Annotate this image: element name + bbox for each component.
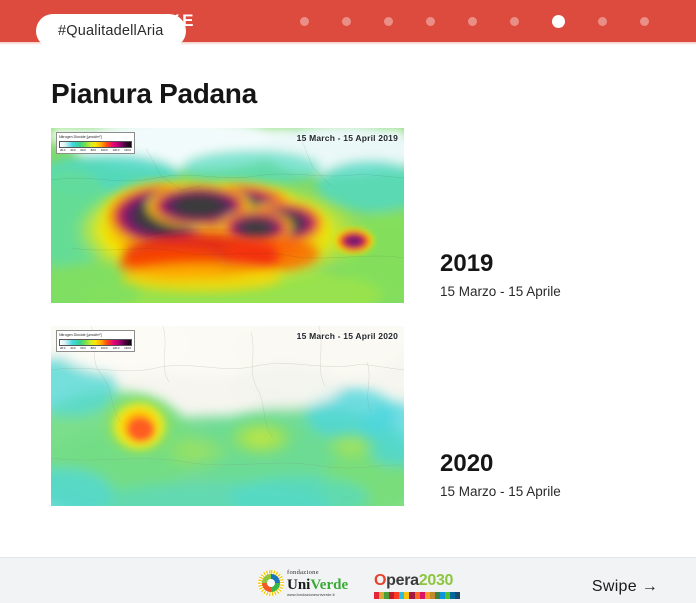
legend-tick-5: 100.0 [101,148,108,152]
carousel-dot-7-active[interactable] [552,15,565,28]
colorbar-legend-2019: Nitrogen Dioxide [µmol/m²] 20.0 40.0 60.… [56,132,135,154]
swipe-label[interactable]: Swipe → [592,578,658,596]
legend-tick-2: 40.0 [70,148,75,152]
legend-ticks: 20.0 40.0 60.0 80.0 100.0 120.0 140.0 [59,148,132,152]
year-block-2020: 2020 15 Marzo - 15 Aprile [440,450,561,501]
univerde-wordmark: fondazione UniVerde www.fondazioneuniver… [287,570,348,597]
opera-2030: 2030 [419,572,453,589]
page-title: Pianura Padana [51,78,257,110]
legend-tick-3: 60.0 [80,346,85,350]
legend-tick-7: 140.0 [124,346,131,350]
year-label-2020: 2020 [440,450,561,478]
legend-tick-4: 80.0 [91,346,96,350]
univerde-logo[interactable]: fondazione UniVerde www.fondazioneuniver… [258,570,348,597]
univerde-verde: Verde [310,577,348,593]
map-date-label-2019: 15 March - 15 April 2019 [297,133,398,143]
opera-o: O [374,572,386,589]
no2-heatmap-2019 [51,128,404,303]
colorbar-legend-2020: Nitrogen Dioxide [µmol/m²] 20.0 40.0 60.… [56,330,135,352]
legend-tick-1: 20.0 [60,346,65,350]
carousel-dots[interactable] [300,0,649,42]
map-figure-2020: . Nitrogen Dioxide [µmol/m²] 20.0 40.0 6… [51,326,404,506]
map-date-label-2020: 15 March - 15 April 2020 [297,331,398,341]
carousel-dot-1[interactable] [300,17,309,26]
year-block-2019: 2019 15 Marzo - 15 Aprile [440,250,561,301]
hashtag-pill[interactable]: #QualitadellAria [36,14,186,48]
opera2030-wordmark: Opera2030 [374,572,462,590]
year-period-2020: 15 Marzo - 15 Aprile [440,483,561,501]
sun-icon [258,570,284,596]
univerde-line2: UniVerde [287,577,348,593]
no2-heatmap-2020: . [51,326,404,506]
legend-tick-3: 60.0 [80,148,85,152]
year-label-2019: 2019 [440,250,561,278]
opera-pera: pera [386,572,419,589]
legend-tick-2: 40.0 [70,346,75,350]
legend-tick-7: 140.0 [124,148,131,152]
carousel-dot-3[interactable] [384,17,393,26]
legend-ticks: 20.0 40.0 60.0 80.0 100.0 120.0 140.0 [59,346,132,350]
year-period-2019: 15 Marzo - 15 Aprile [440,283,561,301]
legend-tick-6: 120.0 [112,148,119,152]
map-figure-2019: Nitrogen Dioxide [µmol/m²] 20.0 40.0 60.… [51,128,404,303]
carousel-dot-9[interactable] [640,17,649,26]
carousel-dot-2[interactable] [342,17,351,26]
carousel-dot-5[interactable] [468,17,477,26]
legend-tick-6: 120.0 [112,346,119,350]
univerde-url: www.fondazioneuniverde.it [287,593,348,597]
legend-colorbar [59,141,132,148]
sdg-color-stripes [374,592,460,599]
carousel-dot-8[interactable] [598,17,607,26]
legend-tick-4: 80.0 [91,148,96,152]
univerde-uni: Uni [287,577,310,593]
carousel-dot-6[interactable] [510,17,519,26]
legend-title: Nitrogen Dioxide [µmol/m²] [59,333,132,338]
legend-colorbar [59,339,132,346]
legend-tick-5: 100.0 [101,346,108,350]
opera2030-logo[interactable]: Opera2030 [374,572,462,599]
legend-title: Nitrogen Dioxide [µmol/m²] [59,135,132,140]
legend-tick-1: 20.0 [60,148,65,152]
carousel-dot-4[interactable] [426,17,435,26]
